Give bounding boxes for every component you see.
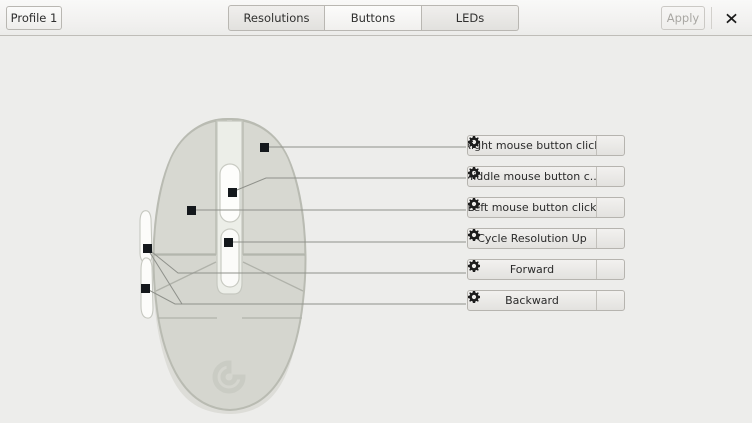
close-icon[interactable] bbox=[718, 6, 744, 30]
action-row-left-mouse-button-click[interactable]: Left mouse button click bbox=[467, 197, 625, 218]
marker-scroll-wheel bbox=[228, 188, 237, 197]
marker-dpi-button bbox=[224, 238, 233, 247]
action-label: Middle mouse button c... bbox=[468, 167, 596, 186]
gear-icon[interactable] bbox=[596, 136, 624, 155]
action-label: Cycle Resolution Up bbox=[468, 229, 596, 248]
action-list: Right mouse button click Middle mouse bu… bbox=[467, 135, 625, 321]
apply-button[interactable]: Apply bbox=[661, 6, 705, 30]
gear-icon[interactable] bbox=[596, 260, 624, 279]
marker-side-forward bbox=[143, 244, 152, 253]
action-label: Forward bbox=[468, 260, 596, 279]
application-window: Profile 1 Resolutions Buttons LEDs Apply bbox=[0, 0, 752, 423]
gear-icon[interactable] bbox=[596, 167, 624, 186]
tab-resolutions-label: Resolutions bbox=[243, 11, 309, 25]
apply-label: Apply bbox=[667, 11, 699, 25]
gear-icon[interactable] bbox=[596, 198, 624, 217]
marker-left-button bbox=[187, 206, 196, 215]
action-label: Left mouse button click bbox=[468, 198, 596, 217]
tab-resolutions[interactable]: Resolutions bbox=[228, 5, 325, 31]
header-divider bbox=[711, 7, 712, 29]
tab-leds-label: LEDs bbox=[456, 11, 485, 25]
profile-selector-button[interactable]: Profile 1 bbox=[6, 6, 62, 30]
action-label: Backward bbox=[468, 291, 596, 310]
gear-icon[interactable] bbox=[596, 291, 624, 310]
action-row-cycle-resolution-up[interactable]: Cycle Resolution Up bbox=[467, 228, 625, 249]
header-bar: Profile 1 Resolutions Buttons LEDs Apply bbox=[0, 0, 752, 36]
action-row-forward[interactable]: Forward bbox=[467, 259, 625, 280]
mouse-diagram bbox=[0, 36, 752, 423]
action-row-backward[interactable]: Backward bbox=[467, 290, 625, 311]
tab-bar: Resolutions Buttons LEDs bbox=[228, 5, 519, 31]
gear-icon[interactable] bbox=[596, 229, 624, 248]
tab-leds[interactable]: LEDs bbox=[422, 5, 519, 31]
action-row-right-mouse-button-click[interactable]: Right mouse button click bbox=[467, 135, 625, 156]
marker-right-button bbox=[260, 143, 269, 152]
profile-label: Profile 1 bbox=[11, 11, 58, 25]
action-label: Right mouse button click bbox=[468, 136, 596, 155]
tab-buttons[interactable]: Buttons bbox=[325, 5, 422, 31]
tab-buttons-label: Buttons bbox=[351, 11, 396, 25]
action-row-middle-mouse-button-click[interactable]: Middle mouse button c... bbox=[467, 166, 625, 187]
device-canvas: Right mouse button click Middle mouse bu… bbox=[0, 36, 752, 423]
marker-side-backward bbox=[141, 284, 150, 293]
